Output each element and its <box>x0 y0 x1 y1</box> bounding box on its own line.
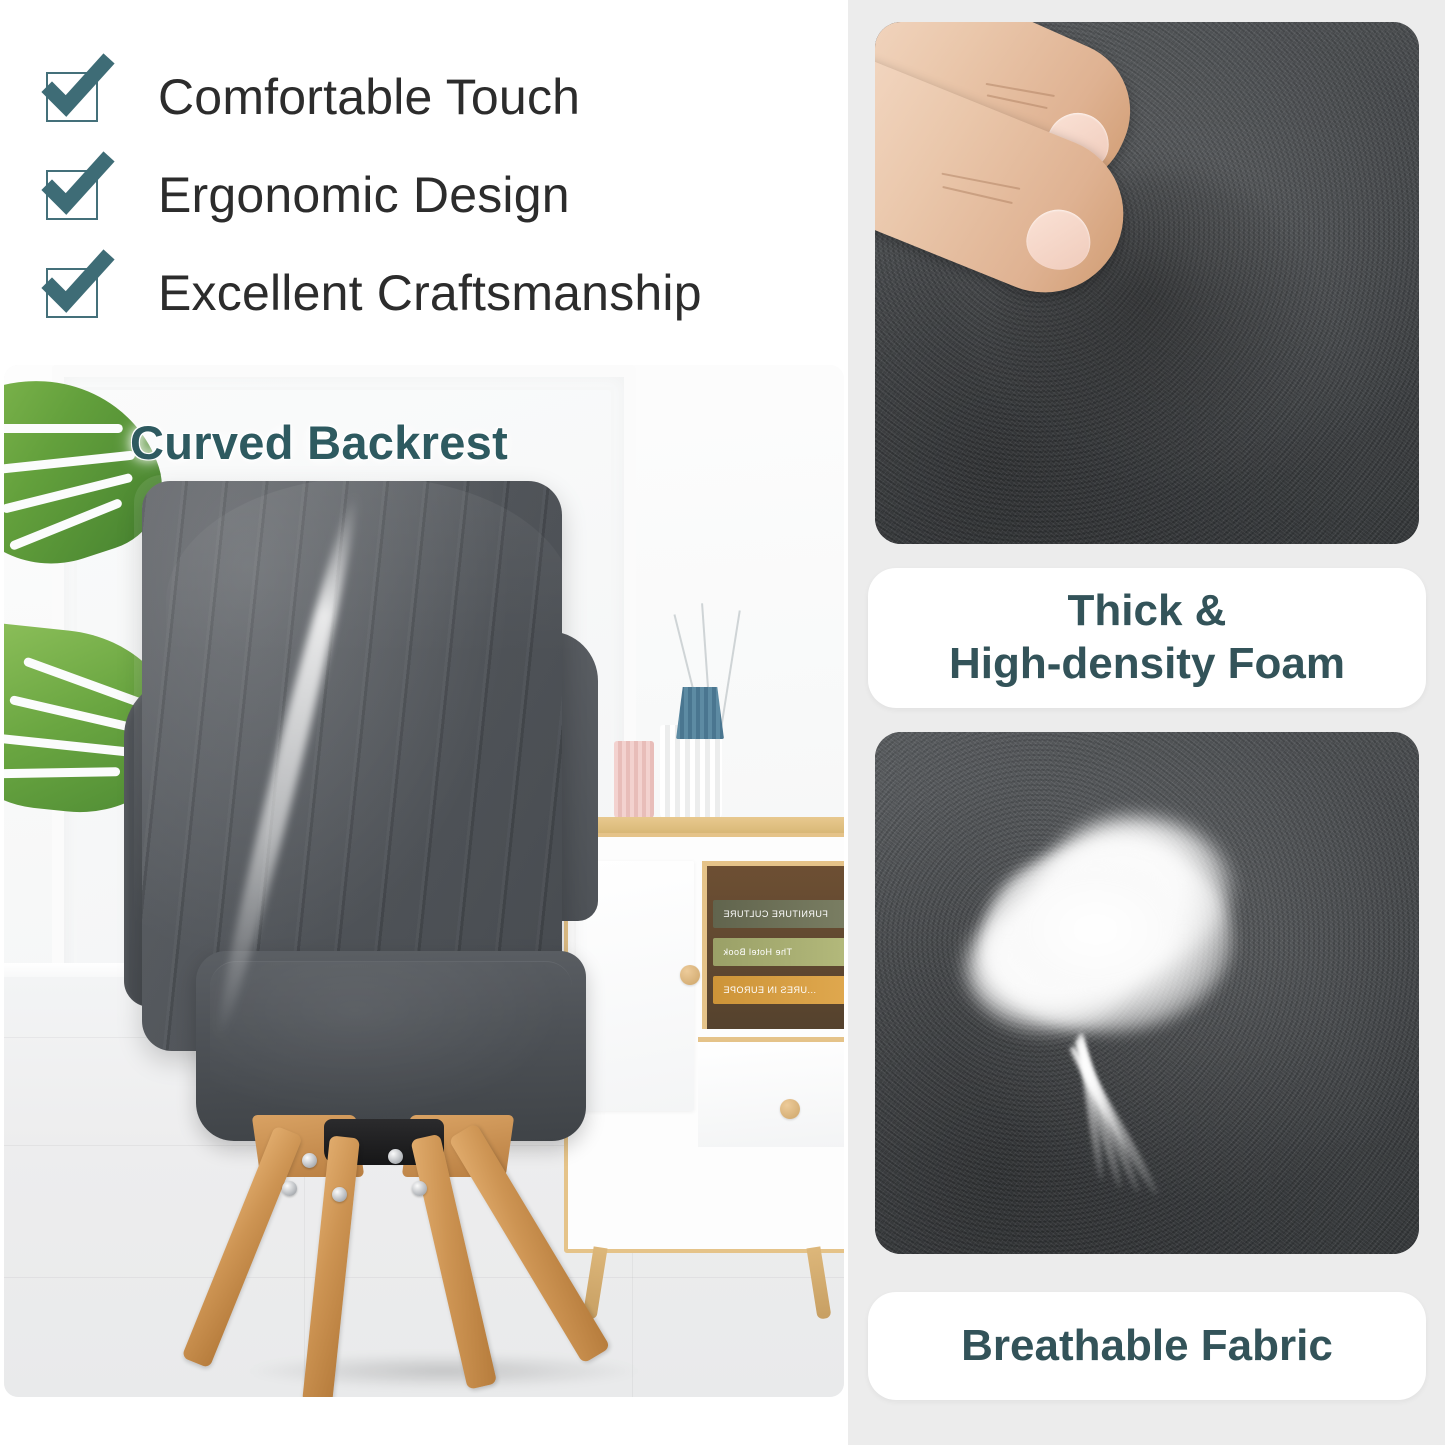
breathable-label-line1: Breathable Fabric <box>961 1320 1333 1373</box>
feature-item-ergonomic-design: Ergonomic Design <box>44 146 824 244</box>
checkbox-checked-icon <box>44 68 106 126</box>
chair-seat-cushion <box>196 951 586 1141</box>
feature-label: Ergonomic Design <box>158 166 570 224</box>
wood-leg <box>181 1125 302 1368</box>
feature-checklist: Comfortable Touch Ergonomic Design <box>44 48 824 342</box>
foam-press-photo <box>875 22 1419 544</box>
blue-vase <box>676 687 724 739</box>
foam-label: Thick & High-density Foam <box>868 568 1426 708</box>
book-spine: The Hotel Book <box>713 938 844 966</box>
foam-label-line1: Thick & <box>949 585 1345 638</box>
foam-label-line2: High-density Foam <box>949 638 1345 691</box>
product-feature-graphic: Comfortable Touch Ergonomic Design <box>0 0 1445 1445</box>
checkbox-checked-icon <box>44 264 106 322</box>
cabinet-open-shelf: FURNITURE CULTURE The Hotel Book ...URES… <box>702 861 844 1029</box>
vapor-puff <box>983 844 1233 1034</box>
cabinet-drawer <box>698 1037 844 1147</box>
hero-product-photo: FURNITURE CULTURE The Hotel Book ...URES… <box>4 365 844 1397</box>
pink-vase <box>614 741 654 819</box>
book-spine: FURNITURE CULTURE <box>713 900 844 928</box>
right-column: Thick & High-density Foam Breathable Fab… <box>848 0 1445 1445</box>
book-spine: ...URES IN EUROPE <box>713 976 844 1004</box>
feature-item-excellent-craftsmanship: Excellent Craftsmanship <box>44 244 824 342</box>
left-column: Comfortable Touch Ergonomic Design <box>0 0 848 1445</box>
accent-chair <box>124 481 604 1361</box>
feature-label: Excellent Craftsmanship <box>158 264 702 322</box>
checkbox-checked-icon <box>44 166 106 224</box>
feature-label: Comfortable Touch <box>158 68 580 126</box>
breathable-fabric-photo <box>875 732 1419 1254</box>
breathable-label: Breathable Fabric <box>868 1292 1426 1400</box>
feature-item-comfortable-touch: Comfortable Touch <box>44 48 824 146</box>
white-vase <box>660 725 722 819</box>
hero-caption: Curved Backrest <box>130 415 508 470</box>
